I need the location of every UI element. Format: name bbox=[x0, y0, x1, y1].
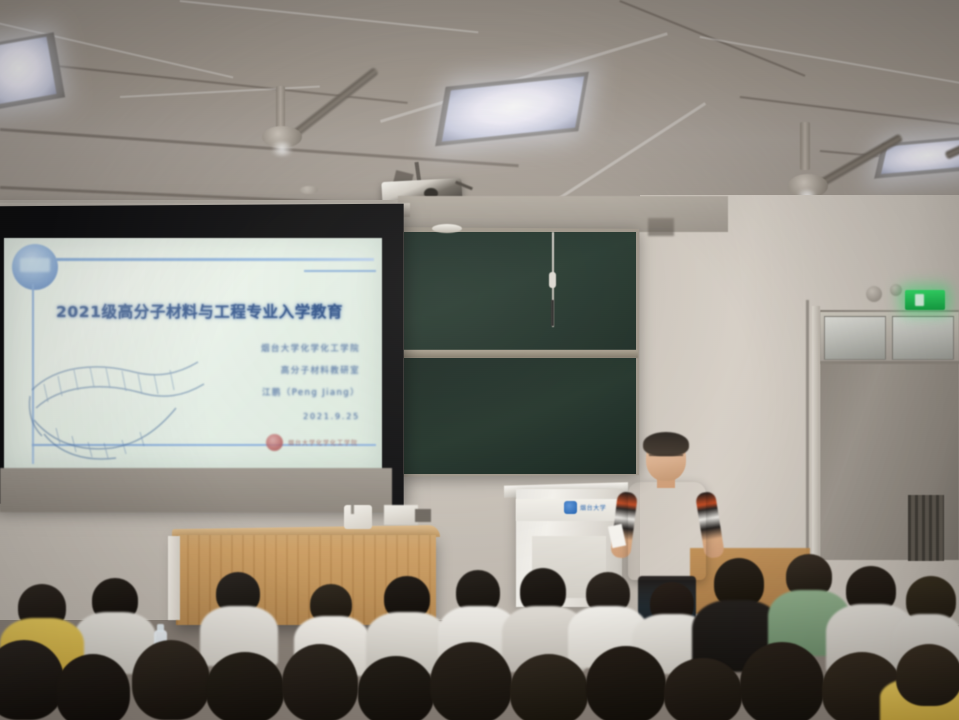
board-lamp bbox=[432, 224, 462, 233]
university-seal-label: 烟台大学化学化工学院 bbox=[288, 438, 380, 446]
projection-screen: 2021级高分子材料与工程专业入学教育 烟台大学化学化工学院 高分子材料教研室 … bbox=[4, 238, 382, 470]
slide-title: 2021级高分子材料与工程专业入学教育 bbox=[56, 300, 382, 322]
wall-speaker bbox=[648, 218, 674, 236]
pull-cord-tip[interactable] bbox=[551, 300, 554, 326]
lectern-logo-icon bbox=[564, 501, 577, 514]
audience: 以世界 bbox=[0, 548, 959, 720]
student-head bbox=[358, 656, 434, 720]
transom-pane bbox=[892, 316, 954, 360]
slide-subtitle-line: 烟台大学化学化工学院 bbox=[261, 342, 360, 354]
student-head bbox=[132, 640, 210, 720]
blackboard-panel-lower bbox=[404, 358, 636, 474]
dna-helix-graphic bbox=[26, 356, 206, 464]
chalk-rail bbox=[402, 350, 638, 358]
slide-emblem-inner bbox=[20, 258, 50, 272]
slide-subtitle-line: 江鹏（Peng Jiang） bbox=[262, 386, 360, 398]
university-seal-icon bbox=[266, 434, 283, 451]
slide-date: 2021.9.25 bbox=[303, 412, 360, 421]
desk-monitor bbox=[344, 505, 372, 529]
ceiling-dome-light bbox=[300, 186, 318, 194]
student-head bbox=[740, 642, 824, 720]
pull-cord-weight[interactable] bbox=[549, 272, 556, 288]
wall-fixture bbox=[890, 284, 902, 296]
student-head bbox=[510, 654, 588, 720]
slide-subtitle-line: 高分子材料教研室 bbox=[281, 364, 360, 376]
student-head bbox=[896, 644, 959, 706]
student-head bbox=[56, 654, 130, 720]
classroom-photo: 2021级高分子材料与工程专业入学教育 烟台大学化学化工学院 高分子材料教研室 … bbox=[0, 0, 959, 720]
glasses-icon bbox=[649, 454, 683, 461]
desk-microphone bbox=[351, 500, 354, 514]
wall-seam bbox=[806, 300, 809, 562]
student-head bbox=[430, 642, 512, 720]
student-head bbox=[282, 644, 358, 720]
desk-item bbox=[415, 509, 431, 522]
wall-fixture bbox=[866, 286, 882, 302]
ceiling-light-panel bbox=[0, 37, 57, 106]
transom-pane bbox=[824, 316, 886, 360]
student-head bbox=[206, 652, 284, 720]
exit-sign bbox=[905, 290, 945, 310]
screen-lower-skirt bbox=[0, 468, 392, 512]
blackboard-panel-upper bbox=[404, 232, 636, 350]
desk-equipment-box bbox=[384, 505, 418, 525]
slide-divider-top-accent bbox=[304, 270, 376, 272]
door-frame bbox=[812, 306, 820, 564]
student-head bbox=[586, 646, 666, 720]
presenter-hair bbox=[643, 432, 689, 456]
student-head bbox=[664, 658, 742, 720]
slide-divider-top bbox=[56, 258, 374, 261]
